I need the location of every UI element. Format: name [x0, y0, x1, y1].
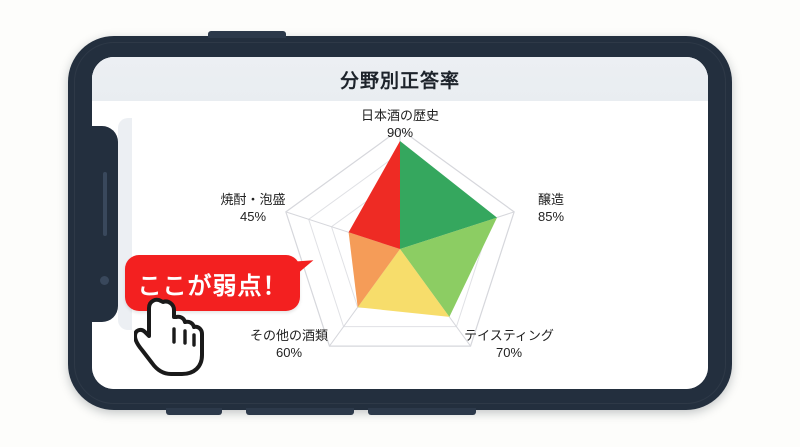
app-header-bar: 分野別正答率: [92, 57, 708, 101]
axis-label-brewing: 醸造 85%: [508, 191, 594, 225]
sector-other: [349, 232, 400, 307]
radar-grid: [286, 129, 514, 346]
phone-notch: [92, 126, 118, 322]
axis-label-other: その他の酒類 60%: [224, 327, 354, 361]
sector-tasting: [358, 249, 450, 317]
axis-label-history: 日本酒の歴史 90%: [92, 107, 708, 141]
sector-brewing: [400, 218, 497, 317]
page-title: 分野別正答率: [340, 66, 460, 93]
volume-down-button[interactable]: [368, 408, 476, 415]
axis-label-shochu: 焼酎・泡盛 45%: [198, 191, 308, 225]
sector-history: [400, 141, 497, 249]
power-button[interactable]: [208, 31, 286, 38]
screenshot-stage: 分野別正答率: [0, 0, 800, 447]
callout-tail: [291, 260, 314, 277]
radar-chart-svg: [185, 101, 615, 371]
front-camera: [100, 276, 109, 285]
earpiece-speaker: [103, 172, 107, 236]
sector-shochu: [349, 141, 400, 249]
volume-up-button[interactable]: [246, 408, 354, 415]
hand-pointer-icon: [134, 296, 210, 380]
axis-label-tasting: テイスティング 70%: [444, 327, 574, 361]
silent-switch[interactable]: [166, 408, 222, 415]
radar-sectors: [349, 141, 497, 317]
